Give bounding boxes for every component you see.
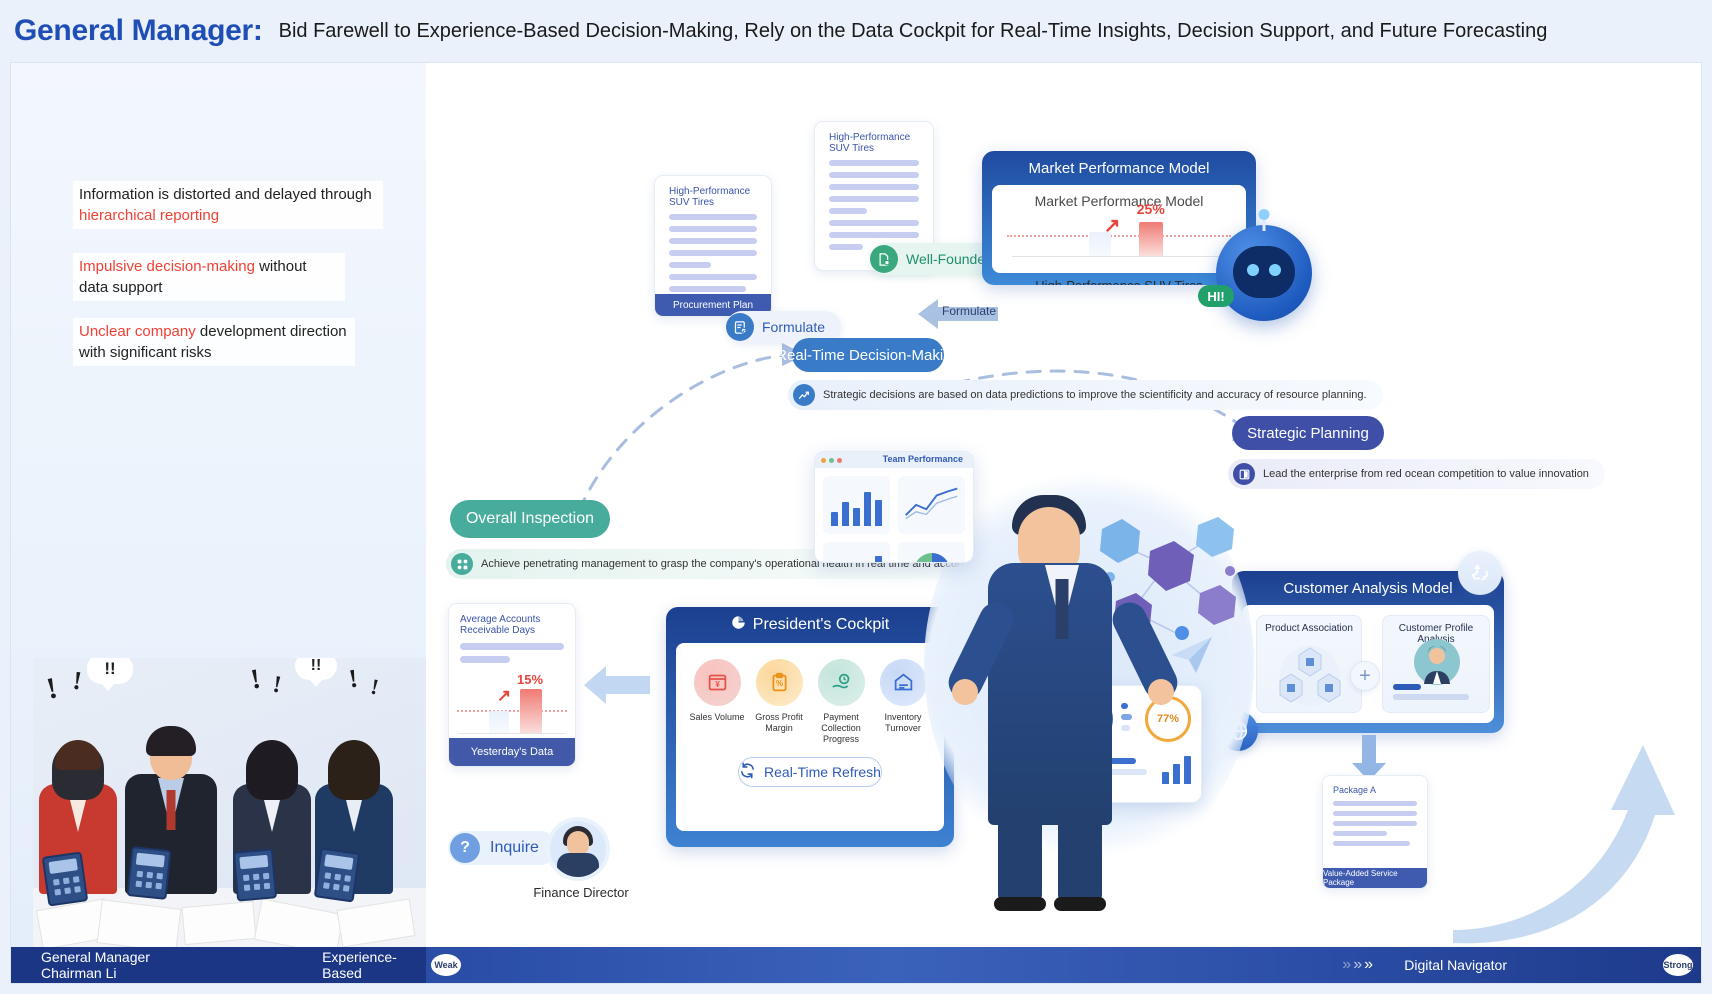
cockpit-metric-list: ¥ Sales Volume % Gross Profit Margin [676, 643, 944, 747]
receivable-days-card[interactable]: Average Accounts Receivable Days ↗ 15% Y… [448, 603, 576, 767]
page-title-sub: Bid Farewell to Experience-Based Decisio… [279, 20, 1548, 43]
receivable-percent: 15% [517, 672, 543, 687]
scattered-paper [97, 899, 182, 950]
slide-canvas: Information is distorted and delayed thr… [10, 62, 1702, 984]
refresh-icon [739, 762, 756, 782]
formulate-arrow-label: Formulate [942, 304, 996, 318]
kpi-mini-bars [1162, 754, 1191, 784]
inquire-pill[interactable]: ? Inquire [448, 831, 557, 865]
cockpit-body: ¥ Sales Volume % Gross Profit Margin [676, 643, 944, 831]
grid-blocks-icon [451, 553, 473, 575]
market-model-minichart: ↗ 25% [992, 217, 1246, 257]
person-figure [39, 746, 117, 894]
cockpit-metric-gross-profit[interactable]: % Gross Profit Margin [748, 659, 810, 745]
inventory-turnover-label: Inventory Turnover [872, 712, 934, 734]
real-time-decision-note: Strategic decisions are based on data pr… [788, 380, 1383, 410]
exclamation-mark: ! [271, 672, 284, 700]
customer-model-body: Product Association + Customer Profile A… [1242, 605, 1494, 723]
receivable-card-lines [449, 643, 575, 663]
diagram-canvas: High-Performance SUV Tires Procurement P… [426, 63, 1702, 984]
pain-point-2-highlight: Impulsive decision-making [79, 258, 255, 275]
speech-bubble: !! [295, 658, 337, 680]
sales-volume-label: Sales Volume [686, 712, 748, 723]
dashboard-title: Team Performance [883, 454, 963, 464]
pain-point-2: Impulsive decision-making without data s… [73, 253, 345, 301]
page-header: General Manager: Bid Farewell to Experie… [0, 0, 1712, 62]
trend-chart-icon [793, 384, 815, 406]
market-model-body: Market Performance Model ↗ 25% High-Perf… [992, 185, 1246, 273]
dashboard-tile-bars-2 [823, 542, 890, 563]
market-model-axis-label: High-Performance SUV Tires [992, 278, 1246, 285]
market-model-head-title: Market Performance Model [1029, 160, 1210, 177]
strategic-planning-tag[interactable]: Strategic Planning [1232, 416, 1384, 450]
pain-point-1: Information is distorted and delayed thr… [73, 181, 383, 229]
real-time-note-text: Strategic decisions are based on data pr… [823, 389, 1367, 401]
weak-badge: Weak [431, 954, 461, 976]
calculator [314, 847, 361, 902]
calculator [126, 846, 171, 900]
plus-icon: + [1350, 661, 1380, 691]
growth-swoosh-arrow [1443, 715, 1702, 945]
person-figure [233, 746, 311, 894]
dashboard-tile-donut [898, 542, 965, 563]
exclamation-mark: ! [248, 663, 263, 696]
pain-point-1-highlight: hierarchical reporting [79, 207, 219, 224]
strong-badge: Strong [1663, 954, 1693, 976]
exclamation-mark: ! [44, 671, 61, 706]
customer-avatar-icon [1413, 638, 1461, 686]
product-association-label: Product Association [1257, 616, 1361, 634]
customer-model-head-title: Customer Analysis Model [1283, 580, 1452, 597]
formulate-arrow: Formulate [918, 295, 998, 333]
question-mark-icon: ? [450, 833, 480, 863]
payment-collection-label: Payment Collection Progress [810, 712, 872, 745]
page-title-main: General Manager: [14, 14, 263, 48]
market-model-header: Market Performance Model [982, 151, 1256, 185]
market-model-body-title: Market Performance Model [992, 185, 1246, 209]
book-icon [1233, 463, 1255, 485]
hi-badge: HI! [1198, 285, 1234, 307]
doc-card-1-title: High-Performance SUV Tires [655, 176, 771, 214]
payment-collection-icon [818, 659, 865, 706]
finance-director-label: Finance Director [516, 885, 646, 900]
market-model-percent: 25% [1137, 201, 1165, 217]
cockpit-header: President's Cockpit [666, 607, 954, 643]
person-figure [125, 732, 217, 894]
doc-card-2-lines [815, 160, 933, 250]
formulate-pill-label: Formulate [762, 319, 825, 335]
receivable-card-title: Average Accounts Receivable Days [449, 604, 575, 643]
dashboard-tile-bars [823, 476, 890, 534]
customer-profile-bars [1393, 684, 1479, 700]
dashboard-tile-trend [898, 476, 965, 534]
procurement-plan-card[interactable]: High-Performance SUV Tires Procurement P… [654, 175, 772, 317]
strategic-note-text: Lead the enterprise from red ocean compe… [1263, 468, 1589, 480]
inquire-label: Inquire [490, 839, 539, 857]
calculator [233, 848, 277, 901]
receivable-card-footer: Yesterday's Data [449, 738, 575, 766]
doc-card-2-title: High-Performance SUV Tires [815, 122, 933, 160]
exclamation-mark: ! [71, 666, 84, 697]
data-flow-arrow [584, 663, 650, 707]
gross-profit-margin-label: Gross Profit Margin [748, 712, 810, 734]
sales-volume-icon: ¥ [694, 659, 741, 706]
gross-profit-margin-icon: % [756, 659, 803, 706]
svg-text:%: % [776, 679, 783, 688]
value-added-package-card[interactable]: Package A Value-Added Service Package [1322, 775, 1428, 889]
document-check-icon [726, 313, 754, 341]
package-card-lines [1323, 801, 1427, 846]
exclamation-mark: ! [347, 664, 360, 695]
person-figure [315, 746, 393, 894]
pain-point-1-pre: Information is distorted and delayed thr… [79, 186, 372, 203]
bottom-bar-left-segment: General Manager Chairman Li Experience-B… [11, 947, 426, 983]
market-performance-model-card[interactable]: Market Performance Model Market Performa… [982, 151, 1256, 285]
bottom-bar-experience-label: Experience-Based [322, 949, 426, 981]
pain-point-3-highlight: Unclear company [79, 323, 196, 340]
pain-point-3: Unclear company development direction wi… [73, 318, 355, 366]
left-panel: Information is distorted and delayed thr… [11, 63, 426, 984]
overall-inspection-tag[interactable]: Overall Inspection [450, 500, 610, 538]
cockpit-metric-payment-collection[interactable]: Payment Collection Progress [810, 659, 872, 745]
bottom-bar-navigator-label: Digital Navigator [1404, 957, 1507, 973]
speech-bubble: !! [87, 658, 133, 684]
finance-director-avatar[interactable] [550, 821, 606, 877]
scattered-paper [181, 901, 256, 945]
real-time-decision-tag[interactable]: Real-Time Decision-Making [792, 338, 944, 372]
real-time-refresh-button[interactable]: Real-Time Refresh [738, 757, 882, 787]
dashboard-titlebar: Team Performance [815, 452, 973, 468]
product-association-card[interactable]: Product Association [1256, 615, 1362, 713]
receivable-minichart: ↗ 15% [449, 680, 575, 734]
pie-chart-icon [731, 615, 746, 635]
refresh-label: Real-Time Refresh [764, 764, 881, 780]
bottom-status-bar: General Manager Chairman Li Experience-B… [11, 947, 1702, 983]
svg-text:¥: ¥ [715, 680, 720, 689]
strategic-planning-note: Lead the enterprise from red ocean compe… [1228, 459, 1605, 489]
inventory-turnover-icon [880, 659, 927, 706]
customer-profile-card[interactable]: Customer Profile Analysis [1382, 615, 1490, 713]
exclamation-mark: ! [368, 674, 381, 701]
package-card-footer: Value-Added Service Package [1323, 868, 1427, 888]
package-card-title: Package A [1323, 776, 1427, 801]
document-gear-icon [870, 245, 898, 273]
presenter-figure [962, 467, 1162, 915]
presidents-cockpit-card[interactable]: President's Cockpit ¥ Sales Volume % Gro [666, 607, 954, 847]
dashboard-tiles [815, 468, 973, 563]
recycle-icon[interactable] [1458, 551, 1502, 595]
product-association-diagram [1271, 642, 1349, 708]
progress-chevrons: »»» [1342, 956, 1373, 974]
frustrated-team-illustration: ! ! !! ! ! !! ! ! [33, 658, 426, 950]
doc-card-1-lines [655, 214, 771, 304]
cockpit-metric-sales-volume[interactable]: ¥ Sales Volume [686, 659, 748, 745]
calculator [42, 851, 89, 906]
well-founded-pill-label: Well-Founded [906, 251, 993, 267]
bottom-bar-gm-label: General Manager Chairman Li [41, 949, 212, 981]
ai-robot-avatar[interactable] [1216, 225, 1312, 321]
team-performance-dashboard[interactable]: Team Performance [814, 451, 974, 563]
customer-analysis-model-card[interactable]: Customer Analysis Model Product Associat… [1232, 571, 1504, 733]
cockpit-head-title: President's Cockpit [753, 616, 889, 634]
